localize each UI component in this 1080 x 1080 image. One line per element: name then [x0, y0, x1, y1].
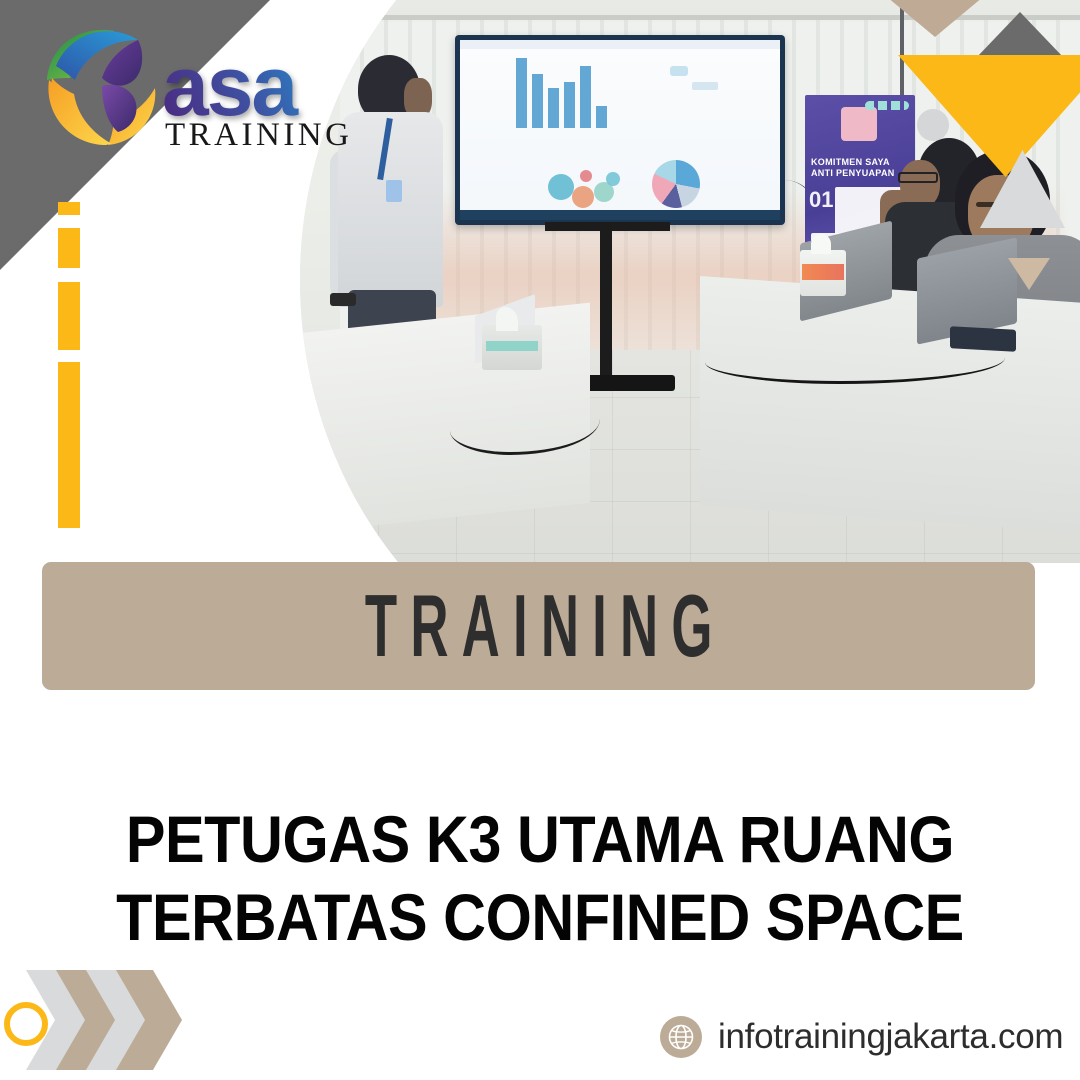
chevron-group	[20, 970, 220, 1070]
website-footer[interactable]: infotrainingjakarta.com	[660, 1016, 1063, 1058]
page-title-line2: TERBATAS CONFINED SPACE	[108, 878, 972, 956]
poster-canvas: KOMITMEN SAYA ANTI PENYUAPAN 01 02	[0, 0, 1080, 1080]
page-title: PETUGAS K3 UTAMA RUANG TERBATAS CONFINED…	[60, 800, 1020, 956]
yellow-circle-icon	[4, 1002, 48, 1046]
standee-dots-icon	[865, 101, 909, 110]
attendee1-glasses-icon	[898, 172, 938, 183]
circle-gray-icon	[917, 109, 949, 141]
asa-circular-logo-icon	[34, 18, 174, 158]
yellow-bar-4	[58, 362, 80, 528]
tissue-box-front	[482, 325, 542, 370]
tissue-box-right	[800, 250, 846, 296]
brand-wordmark: asa TRAINING	[162, 52, 352, 154]
brand-logo[interactable]: asa TRAINING	[34, 18, 354, 178]
presenter-badge	[386, 180, 402, 202]
training-banner-label: TRAINING	[352, 575, 726, 677]
yellow-bar-2	[58, 228, 80, 268]
standee-title-line2: ANTI PENYUAPAN	[811, 168, 909, 179]
yellow-bar-1	[58, 202, 80, 215]
yellow-bar-3	[58, 282, 80, 350]
brand-name: asa	[162, 52, 352, 121]
page-title-line1: PETUGAS K3 UTAMA RUANG	[108, 800, 972, 878]
website-url[interactable]: infotrainingjakarta.com	[718, 1017, 1063, 1057]
display-stand-pole	[600, 225, 612, 390]
standee-title-line1: KOMITMEN SAYA	[811, 157, 909, 168]
globe-icon	[660, 1016, 702, 1058]
training-banner: TRAINING	[42, 562, 1035, 690]
presenter-watch	[330, 293, 356, 306]
standee-title: KOMITMEN SAYA ANTI PENYUAPAN	[811, 157, 909, 179]
attendee1-face	[900, 160, 940, 208]
standee-illustration-icon	[841, 107, 877, 141]
attendee-table	[700, 276, 1080, 534]
standee-item1-num: 01	[809, 187, 833, 213]
